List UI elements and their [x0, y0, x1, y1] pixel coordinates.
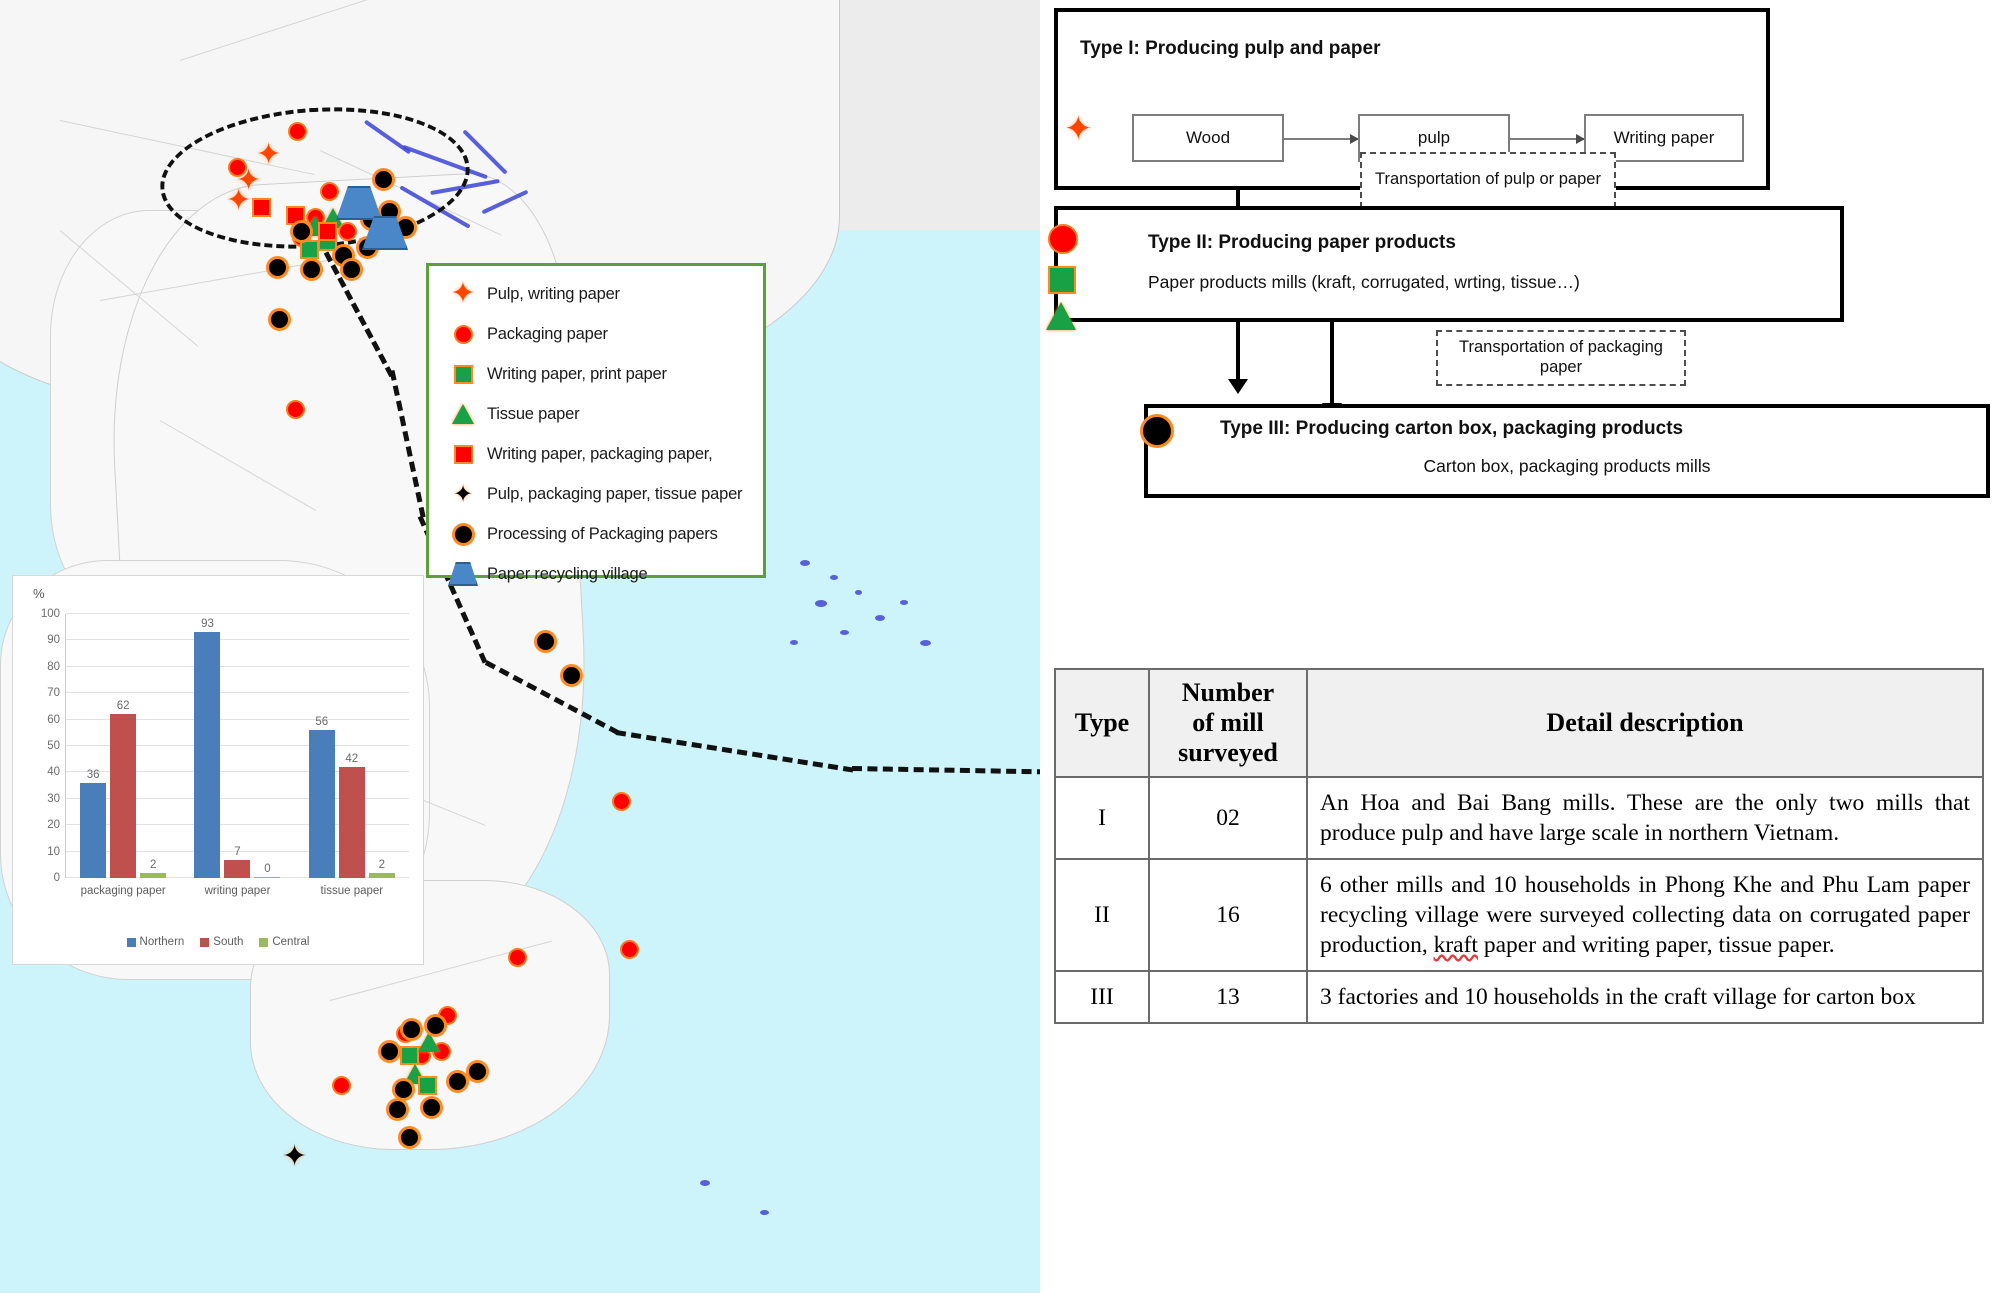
map-marker-processing-packaging [266, 256, 289, 279]
table-row: II 16 6 other mills and 10 households in… [1055, 859, 1983, 971]
map-island-dot [700, 1180, 710, 1186]
map-island-dot [855, 590, 862, 595]
map-island-dot [840, 630, 849, 635]
table-cell-number: 13 [1149, 971, 1307, 1023]
legend-label: Tissue paper [487, 405, 579, 424]
legend-label: Packaging paper [487, 325, 608, 344]
legend-item-tissue-paper: Tissue paper [439, 394, 755, 434]
table-cell-type: II [1055, 859, 1149, 971]
map-marker-processing-packaging [378, 1040, 401, 1063]
map-island-dot [875, 615, 885, 621]
transport-pulp-paper-note: Transportation of pulp or paper [1360, 152, 1616, 208]
legend-label: Pulp, writing paper [487, 285, 620, 304]
map-marker-writing-print-paper [400, 1046, 419, 1065]
map-marker-packaging-paper [612, 792, 631, 811]
chart-value-label: 42 [345, 753, 358, 765]
chart-y-tick-label: 90 [47, 634, 60, 646]
chart-legend-swatch [259, 938, 268, 947]
type1-step-wood: Wood [1132, 114, 1284, 162]
map-marker-packaging-paper [320, 182, 339, 201]
chart-y-tick-label: 20 [47, 819, 60, 831]
chart-legend-label: South [213, 936, 243, 948]
map-marker-processing-packaging [560, 664, 583, 687]
map-marker-packaging-paper [288, 122, 307, 141]
chart-y-tick-label: 0 [54, 872, 60, 884]
map-island-dot [790, 640, 798, 645]
map-island-dot [815, 600, 827, 607]
chart-y-tick-label: 70 [47, 687, 60, 699]
square-red-icon [439, 445, 487, 464]
leader-line-segment [852, 766, 1040, 774]
type1-connector-1 [1284, 138, 1358, 140]
table-cell-detail: 6 other mills and 10 households in Phong… [1307, 859, 1983, 971]
type1-connector-2 [1510, 138, 1584, 140]
chart-legend-item-northern: Northern [127, 936, 185, 948]
table-header-number-line1: Number [1154, 678, 1302, 708]
chart-value-label: 7 [234, 846, 240, 858]
chart-legend-label: Northern [140, 936, 185, 948]
circle-black-icon [1140, 414, 1174, 448]
circle-red-icon [1048, 224, 1078, 254]
chart-bar-south: 42 [339, 767, 365, 878]
legend-label: Pulp, packaging paper, tissue paper [487, 485, 742, 504]
triangle-green-icon [1046, 302, 1076, 330]
chart-bar-central: 2 [369, 873, 395, 878]
chart-value-label: 56 [315, 716, 328, 728]
legend-item-paper-recycling-village: Paper recycling village [439, 554, 755, 594]
chart-bar-northern: 36 [80, 783, 106, 878]
chart-legend-swatch [200, 938, 209, 947]
chart-value-label: 2 [150, 859, 156, 871]
map-marker-processing-packaging [340, 258, 363, 281]
chart-y-tick-label: 100 [41, 608, 60, 620]
map-marker-processing-packaging [268, 308, 291, 331]
map-marker-processing-packaging [386, 1098, 409, 1121]
map-marker-processing-packaging [534, 630, 557, 653]
chart-x-tick-label: packaging paper [81, 885, 166, 897]
triangle-green-icon [439, 404, 487, 424]
chart-legend: NorthernSouthCentral [13, 936, 423, 948]
chart-legend-label: Central [272, 936, 309, 948]
chart-legend-item-south: South [200, 936, 243, 948]
chart-y-tick-label: 30 [47, 793, 60, 805]
leader-line-segment [616, 730, 854, 772]
map-island-dot [900, 600, 908, 605]
type1-title: Type I: Producing pulp and paper [1080, 38, 1381, 60]
map-marker-packaging-paper [332, 1076, 351, 1095]
star-orange-icon: ✦ [1064, 112, 1093, 146]
table-header-row: Type Number of mill surveyed Detail desc… [1055, 669, 1983, 777]
square-green-icon [1048, 266, 1076, 294]
chart-value-label: 36 [87, 769, 100, 781]
map-island-dot [920, 640, 931, 646]
map-marker-pulp-writing-paper: ✦ [236, 166, 261, 196]
chart-y-tick-label: 40 [47, 766, 60, 778]
table-cell-detail: An Hoa and Bai Bang mills. These are the… [1307, 777, 1983, 859]
map-marker-packaging-paper [286, 400, 305, 419]
legend-item-writing-print-paper: Writing paper, print paper [439, 354, 755, 394]
map-marker-processing-packaging [300, 258, 323, 281]
table-cell-number: 16 [1149, 859, 1307, 971]
map-island-dot [760, 1210, 769, 1215]
chart-bar-group: 56422tissue paper [295, 614, 409, 878]
table-cell-type: III [1055, 971, 1149, 1023]
map-marker-writing-packaging-paper [318, 222, 337, 241]
table-row: I 02 An Hoa and Bai Bang mills. These ar… [1055, 777, 1983, 859]
type2-title: Type II: Producing paper products [1148, 232, 1456, 254]
legend-item-pulp-packaging-tissue-paper: ✦ Pulp, packaging paper, tissue paper [439, 474, 755, 514]
chart-plot-area: 010203040506070809010036622packaging pap… [65, 614, 409, 878]
star-black-icon: ✦ [439, 482, 487, 506]
circle-red-icon [439, 325, 487, 344]
circle-black-icon [439, 523, 487, 546]
chart-x-tick-label: writing paper [205, 885, 271, 897]
village-blue-icon [439, 562, 487, 586]
chart-bar-central: 0 [254, 877, 280, 878]
map-marker-writing-packaging-paper [252, 198, 271, 217]
table-row: III 13 3 factories and 10 households in … [1055, 971, 1983, 1023]
map-panel: ✦ ✦ ✦ ✦ [0, 0, 1040, 1293]
chart-y-tick-label: 80 [47, 661, 60, 673]
chart-value-label: 2 [379, 859, 385, 871]
chart-x-tick-label: tissue paper [320, 885, 383, 897]
map-marker-writing-print-paper [418, 1076, 437, 1095]
map-marker-processing-packaging [400, 1018, 423, 1041]
chart-value-label: 93 [201, 618, 214, 630]
diagram-panel: Type I: Producing pulp and paper ✦ Wood … [1040, 0, 2000, 1293]
chart-legend-item-central: Central [259, 936, 309, 948]
legend-label: Writing paper, packaging paper, [487, 445, 713, 464]
map-marker-packaging-paper [338, 222, 357, 241]
type3-box: Type III: Producing carton box, packagin… [1144, 404, 1990, 498]
table-header-number: Number of mill surveyed [1149, 669, 1307, 777]
table-header-number-line2: of mill [1154, 708, 1302, 738]
map-island-dot [830, 575, 838, 580]
transport-packaging-paper-note: Transportation of packaging paper [1436, 330, 1686, 386]
map-marker-processing-packaging [398, 1126, 421, 1149]
type3-title: Type III: Producing carton box, packagin… [1220, 418, 1683, 440]
chart-y-tick-label: 60 [47, 714, 60, 726]
table-cell-type: I [1055, 777, 1149, 859]
map-marker-processing-packaging [466, 1060, 489, 1083]
type2-subtitle: Paper products mills (kraft, corrugated,… [1148, 272, 1580, 293]
chart-bar-group: 9370writing paper [180, 614, 294, 878]
detail-text-part2: paper and writing paper, tissue paper. [1478, 932, 1835, 958]
chart-y-tick-label: 50 [47, 740, 60, 752]
type2-box: Type II: Producing paper products Paper … [1054, 206, 1844, 322]
legend-item-pulp-writing-paper: ✦ Pulp, writing paper [439, 274, 755, 314]
legend-label: Paper recycling village [487, 565, 647, 584]
map-marker-processing-packaging [290, 220, 313, 243]
legend-label: Processing of Packaging papers [487, 525, 718, 544]
chart-value-label: 0 [264, 863, 270, 875]
type3-subtitle: Carton box, packaging products mills [1148, 456, 1986, 477]
legend-label: Writing paper, print paper [487, 365, 667, 384]
table-header-detail: Detail description [1307, 669, 1983, 777]
chart-bar-south: 7 [224, 860, 250, 878]
detail-text-kraft: kraft [1434, 932, 1478, 958]
chart-bar-south: 62 [110, 714, 136, 878]
chart-y-axis-title: % [33, 586, 45, 601]
chart-y-tick-label: 10 [47, 846, 60, 858]
chart-legend-swatch [127, 938, 136, 947]
map-legend: ✦ Pulp, writing paper Packaging paper Wr… [426, 263, 766, 578]
chart-bar-northern: 56 [309, 730, 335, 878]
star-orange-icon: ✦ [439, 279, 487, 309]
map-marker-pulp-packaging-tissue-paper: ✦ [282, 1142, 307, 1172]
chart-bar-group: 36622packaging paper [66, 614, 180, 878]
chart-bar-central: 2 [140, 873, 166, 878]
map-marker-processing-packaging [424, 1014, 447, 1037]
legend-item-packaging-paper: Packaging paper [439, 314, 755, 354]
map-marker-processing-packaging [372, 168, 395, 191]
legend-item-processing-packaging-papers: Processing of Packaging papers [439, 514, 755, 554]
chart-bar-northern: 93 [194, 632, 220, 878]
legend-item-writing-packaging-paper: Writing paper, packaging paper, [439, 434, 755, 474]
map-marker-packaging-paper [508, 948, 527, 967]
table-header-type: Type [1055, 669, 1149, 777]
map-island-dot [800, 560, 810, 566]
detail-table: Type Number of mill surveyed Detail desc… [1054, 668, 1984, 1024]
arrow-type2-to-type3 [1330, 322, 1334, 404]
table-header-number-line3: surveyed [1154, 738, 1302, 768]
chart-value-label: 62 [117, 700, 130, 712]
map-marker-processing-packaging [420, 1096, 443, 1119]
table-cell-detail: 3 factories and 10 households in the cra… [1307, 971, 1983, 1023]
table-cell-number: 02 [1149, 777, 1307, 859]
inset-bar-chart: % 010203040506070809010036622packaging p… [12, 575, 424, 965]
map-marker-packaging-paper [620, 940, 639, 959]
square-green-icon [439, 365, 487, 384]
